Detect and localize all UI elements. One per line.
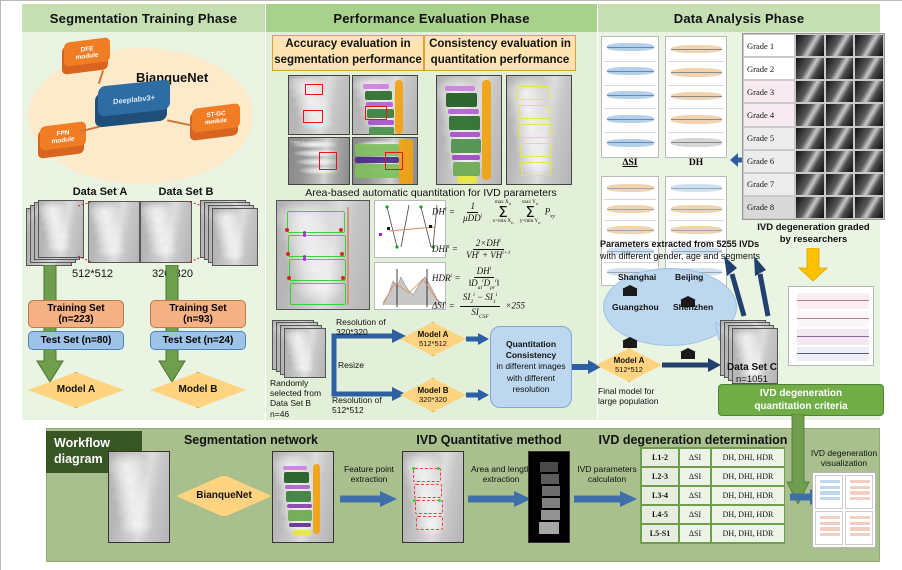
consistency-title-1: Quantitation [506,339,556,350]
grade-thumb [854,34,884,57]
grade-thumb [825,57,855,80]
step1-line2: extraction [351,474,388,484]
viz-line2: visualization [821,458,867,468]
arrow-workflow-2 [468,490,532,508]
grade-thumb [795,150,825,173]
city-beijing: Beijing [675,272,703,282]
det-p2: DH, DHI, HDR [711,467,785,486]
det-p1: ΔSI [679,467,711,486]
grade-label: Grade 8 [743,196,795,219]
step3-line1: IVD parameters [577,464,637,474]
formula-dhi: DHIi = 2×DHiVHi + VHi+1 [432,238,596,262]
det-p1: ΔSI [679,524,711,543]
viz-plot [845,475,873,509]
dataset-b-title: Data Set B [146,186,226,198]
training-set-b[interactable]: Training Set (n=93) [150,300,246,328]
chart-dh [665,36,727,158]
det-p1: ΔSI [679,486,711,505]
res-bot-line2: 512*512 [332,406,404,416]
grade-label: Grade 5 [743,127,795,150]
det-level: L2-3 [641,467,679,486]
grade-thumb [825,173,855,196]
model-a-resize-label: Model A [418,330,449,340]
arrow-workflow-1 [340,490,398,508]
training-set-a-label: Training Set [47,303,104,314]
test-set-a[interactable]: Test Set (n=80) [28,331,124,350]
grade-thumb [854,150,884,173]
training-set-a-count: (n=223) [58,314,93,325]
grade-thumb [854,80,884,103]
workflow-title-segmentation: Segmentation network [156,433,346,447]
model-a-diamond[interactable]: Model A [28,372,124,408]
workflow-net-label: BianqueNet [196,490,252,502]
dataset-b-stack [200,200,258,266]
determination-table: L1-2 ΔSI DH, DHI, HDR L2-3 ΔSI DH, DHI, … [640,447,785,544]
dataset-a-zoom-lines [78,200,92,264]
consistency-body: in different images with different resol… [495,361,567,394]
dataset-a-stack [26,200,84,266]
workflow-step1-label: Feature point extraction [340,464,398,484]
viz-plot [815,475,843,509]
subset-line3: Data Set B [270,398,334,408]
subset-line2: selected from [270,388,334,398]
grade-thumb [825,34,855,57]
grade-label: Grade 7 [743,173,795,196]
det-p2: DH, DHI, HDR [711,524,785,543]
random-subset-caption: Randomly selected from Data Set B n=46 [270,378,334,419]
det-p2: DH, DHI, HDR [711,486,785,505]
workflow-image-raw [108,451,170,543]
grade-thumb [825,150,855,173]
eval-card-accuracy-line1: Accuracy evaluation in [285,37,410,53]
final-model-note-line2: large population [598,396,678,406]
model-a-label: Model A [57,384,96,396]
dataset-a-title: Data Set A [60,186,140,198]
grade-label: Grade 2 [743,57,795,80]
formula-hdr: HDRi = DHi‖DaliDpri‖ [432,266,596,292]
case2-raw-image: Case 2 [288,137,350,185]
formula-dsi: ΔSIi = SI2i − SI1iSICSF ×255 [432,292,596,321]
house-icon [622,285,638,296]
det-level: L1-2 [641,448,679,467]
det-level: L4-5 [641,505,679,524]
fpn-module: FPN module [38,122,90,162]
viz-plot [845,511,873,545]
det-level: L5-S1 [641,524,679,543]
model-b-diamond[interactable]: Model B [150,372,246,408]
grade-caption-line1: IVD degeneration graded [757,222,869,234]
grade-thumb [795,103,825,126]
case1-segmented-image [352,75,418,135]
criteria-line2: quantitation criteria [754,400,847,414]
viz-line1: IVD degeneration [811,448,877,458]
quantitation-consistency-box: Quantitation Consistency in different im… [490,326,572,408]
case1-raw-image: Case 1 [288,75,350,135]
grade-thumb [795,34,825,57]
training-set-b-label: Training Set [169,303,226,314]
eval-card-consistency-line1: Consistency evaluation in [429,37,571,53]
dataset-b-preview [140,201,192,263]
city-shenzhen: Shenzhen [673,302,713,312]
dataset-a-preview [88,201,140,263]
final-model-note-line1: Final model for [598,386,678,396]
dfe-module: DFE module [62,38,114,78]
criteria-box: IVD degeneration quantitation criteria [718,384,884,416]
workflow-bianquenet-diamond[interactable]: BianqueNet [176,475,272,517]
arrow-to-consistency-top [466,331,490,347]
chart-delta-si-label: ΔSI [601,158,659,168]
grade-thumb [825,127,855,150]
figure-root: Segmentation Training Phase Performance … [0,0,902,570]
grade-label: Grade 4 [743,103,795,126]
case2-tag: Case 2 [291,139,304,144]
chart-delta-si [601,36,659,158]
resize-label: Resize [338,360,364,370]
workflow-image-segmented [272,451,334,543]
resolution-bottom-label: Resolution of 512*512 [332,396,404,416]
det-p1: ΔSI [679,448,711,467]
arrow-to-consistency-bottom [466,387,490,403]
consistency-title-2: Consistency [506,350,557,361]
grade-thumb [854,127,884,150]
analysis-result-plot [788,286,874,366]
deeplab-core: Deeplabv3+ [95,80,173,132]
workflow-image-mask [528,451,570,543]
case2-segmented-image [352,137,418,185]
city-guangzhou: Guangzhou [612,302,659,312]
phase-header-evaluation: Performance Evaluation Phase [266,4,597,32]
grade-thumb [854,173,884,196]
arrows-dataset-c-up [724,252,784,322]
arrow-workflow-3 [574,490,638,508]
eval-card-accuracy: Accuracy evaluation in segmentation perf… [272,35,424,71]
final-model-label: Model A [614,356,645,366]
random-subset-stack [272,320,330,376]
test-set-b[interactable]: Test Set (n=24) [150,331,246,350]
parameters-note-line1: Parameters extracted from 5255 IVDs [600,238,780,250]
final-model-note: Final model for large population [598,386,678,406]
grade-thumb [795,173,825,196]
model-b-resize-diamond[interactable]: Model B 320*320 [400,378,466,412]
model-b-label: Model B [179,384,218,396]
chart-dh-label: DH [665,158,727,168]
subset-line1: Randomly [270,378,334,388]
grade-label: Grade 1 [743,34,795,57]
subset-line4: n=46 [270,409,334,419]
workflow-viz-label: IVD degeneration visualization [808,448,880,468]
dataset-c-title: Data Set C [708,362,796,373]
final-model-res: 512*512 [615,365,643,374]
step2-line1: Area and length [471,464,531,474]
grade-thumb [854,103,884,126]
model-a-resize-res: 512*512 [419,339,447,348]
det-p2: DH, DHI, HDR [711,448,785,467]
grade-thumb [825,103,855,126]
grade-thumb [825,80,855,103]
eval-card-accuracy-line2: segmentation performance [274,53,422,69]
step2-line2: extraction [483,474,520,484]
model-b-resize-label: Model B [417,386,448,396]
dataset-a-resolution: 512*512 [72,268,113,280]
phase-header-segmentation: Segmentation Training Phase [22,4,265,32]
det-p1: ΔSI [679,505,711,524]
workflow-step3-label: IVD parameters calculaton [574,464,640,484]
grade-thumb [854,196,884,219]
eval-card-consistency: Consistency evaluation in quantitation p… [424,35,576,71]
training-set-a[interactable]: Training Set (n=223) [28,300,124,328]
viz-plot [815,511,843,545]
workflow-tag-line1: Workflow [54,436,142,452]
training-set-b-count: (n=93) [183,314,213,325]
phase-header-analysis: Data Analysis Phase [598,4,880,32]
det-level: L3-4 [641,486,679,505]
workflow-title-quantitative: IVD Quantitative method [396,433,582,447]
grade-thumb [854,57,884,80]
workflow-viz-plots [812,472,876,548]
model-b-resize-res: 320*320 [419,395,447,404]
workflow-step2-label: Area and length extraction [468,464,534,484]
arrow-grade-down [798,248,828,282]
grade-label: Grade 3 [743,80,795,103]
grade-thumb [795,196,825,219]
grade-thumb [795,57,825,80]
workflow-image-keypoints [402,451,464,543]
workflow-title-degeneration: IVD degeneration determination [578,433,808,447]
grade-thumb [795,127,825,150]
grade-thumb [795,80,825,103]
grade-thumb [825,196,855,219]
criteria-line1: IVD degeneration [760,387,842,401]
res-top-line2: 320*320 [336,328,408,338]
consistency-image-right [506,75,572,185]
st-gc-module: ST-GC module [190,104,244,146]
det-p2: DH, DHI, HDR [711,505,785,524]
city-shanghai: Shanghai [618,272,656,282]
formula-dh: DHi = 1μDDi max XDΣx=min XD max YDΣy=min… [432,200,596,225]
eval-card-consistency-line2: quantitation performance [431,53,570,69]
final-model-diamond[interactable]: Model A 512*512 [596,348,662,382]
consistency-image-left [436,75,502,185]
measurement-image [276,200,370,310]
quantitation-caption: Area-based automatic quantitation for IV… [272,187,590,199]
resolution-top-label: Resolution of 320*320 [336,318,408,338]
step1-line1: Feature point [344,464,394,474]
model-a-resize-diamond[interactable]: Model A 512*512 [400,322,466,356]
grade-label: Grade 6 [743,150,795,173]
grade-table: Grade 1 Grade 2 Grade 3 Grade 4 Grade 5 … [742,33,885,220]
case1-tag: Case 1 [291,77,304,82]
grade-caption-line2: by researchers [780,234,848,246]
house-icon [622,337,638,348]
step3-line2: calculaton [588,474,626,484]
